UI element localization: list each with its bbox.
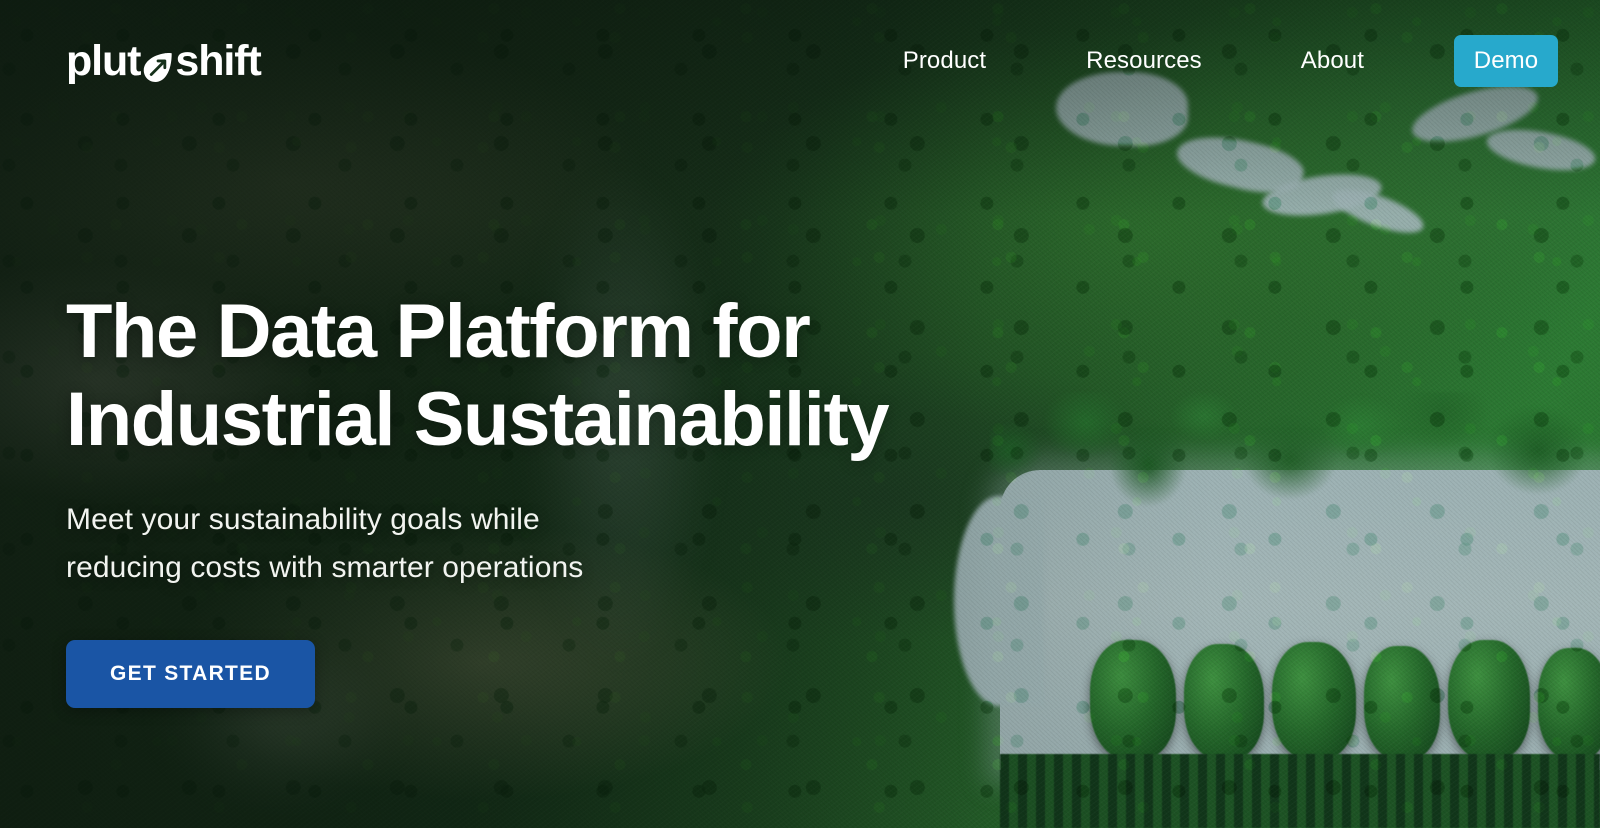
hero-section: plut shift Product Resources About Demo … — [0, 0, 1600, 828]
nav-link-resources[interactable]: Resources — [1084, 41, 1204, 81]
hero-headline: The Data Platform for Industrial Sustain… — [66, 288, 946, 464]
brand-logo-text: plut shift — [66, 40, 261, 83]
site-header: plut shift Product Resources About Demo — [0, 0, 1600, 122]
main-navigation: Product Resources About Demo — [901, 35, 1558, 87]
nav-link-about[interactable]: About — [1299, 41, 1366, 81]
demo-button[interactable]: Demo — [1454, 35, 1558, 87]
hero-content: The Data Platform for Industrial Sustain… — [66, 288, 946, 708]
hero-headline-line-2: Industrial Sustainability — [66, 376, 946, 464]
leaf-arrow-icon — [141, 49, 174, 82]
nav-link-product[interactable]: Product — [901, 41, 988, 81]
brand-logo-text-after: shift — [175, 40, 260, 83]
brand-logo[interactable]: plut shift — [66, 40, 261, 83]
brand-logo-text-before: plut — [66, 40, 140, 83]
hero-subheadline: Meet your sustainability goals while red… — [66, 496, 946, 592]
get-started-button[interactable]: GET STARTED — [66, 640, 315, 708]
hero-headline-line-1: The Data Platform for — [66, 288, 946, 376]
hero-subheadline-line-2: reducing costs with smarter operations — [66, 544, 946, 592]
hero-subheadline-line-1: Meet your sustainability goals while — [66, 496, 946, 544]
